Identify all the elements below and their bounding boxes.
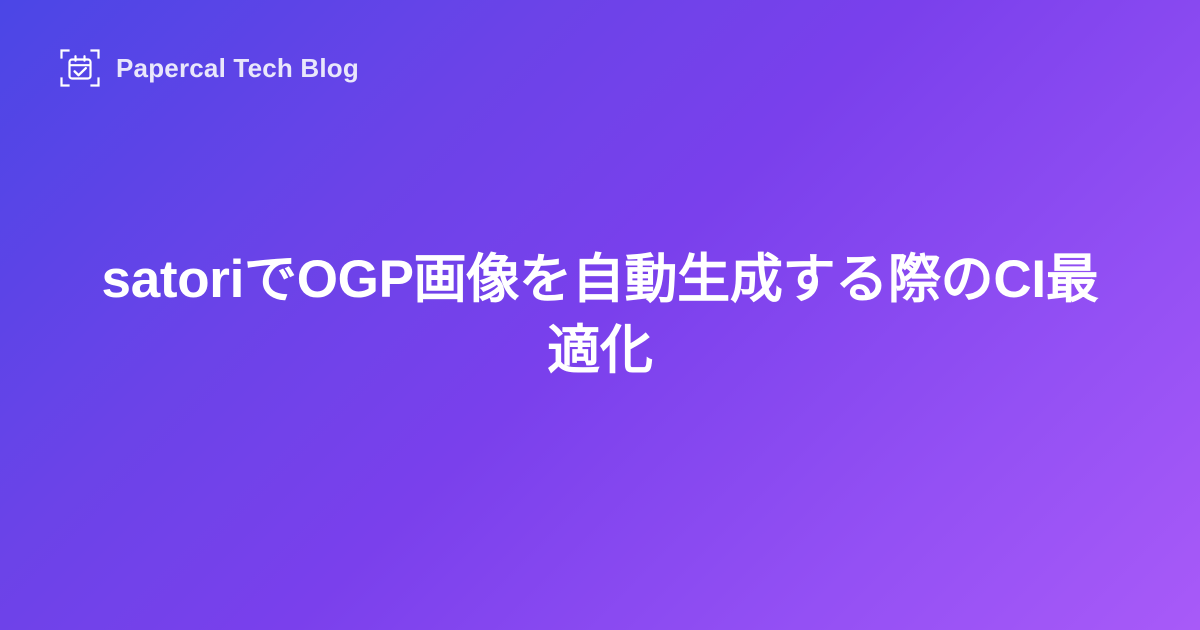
ogp-card: Papercal Tech Blog satoriでOGP画像を自動生成する際の…	[0, 0, 1200, 630]
title-container: satoriでOGP画像を自動生成する際のCI最適化	[0, 0, 1200, 630]
page-title: satoriでOGP画像を自動生成する際のCI最適化	[100, 244, 1100, 386]
